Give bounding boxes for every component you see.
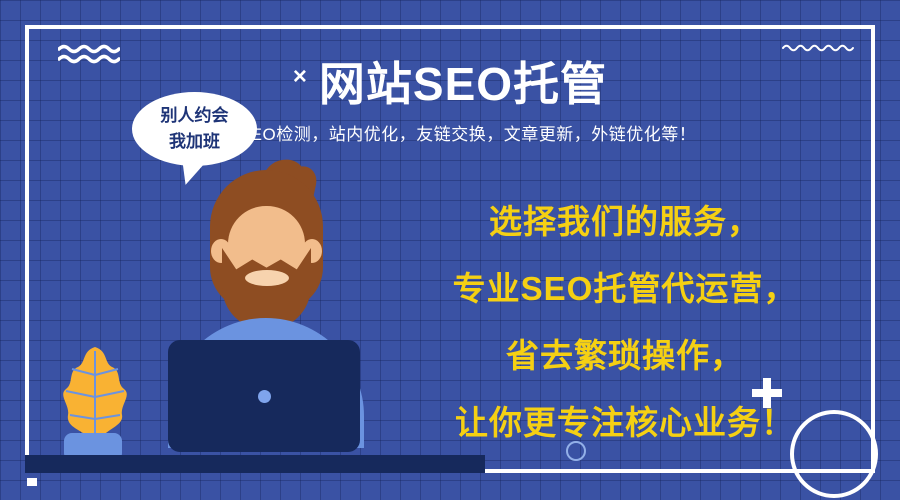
slogan-line: 专业SEO托管代运营， bbox=[410, 255, 840, 322]
seo-promo-banner: ×网站SEO托管 含：SEO检测，站内优化，友链交换，文章更新，外链优化等！ 选… bbox=[0, 0, 900, 500]
desk-surface bbox=[25, 455, 485, 473]
slogan-line: 选择我们的服务， bbox=[410, 188, 840, 255]
speech-bubble: 别人约会 我加班 bbox=[132, 92, 257, 166]
mouth bbox=[245, 270, 289, 286]
laptop-logo-dot bbox=[258, 390, 271, 403]
speech-bubble-line: 我加班 bbox=[132, 129, 257, 155]
plant-illustration bbox=[50, 345, 140, 457]
slogan-line: 让你更专注核心业务！ bbox=[410, 389, 840, 456]
speech-bubble-line: 别人约会 bbox=[132, 103, 257, 129]
laptop bbox=[168, 340, 360, 452]
slogan-block: 选择我们的服务， 专业SEO托管代运营， 省去繁琐操作， 让你更专注核心业务！ bbox=[410, 188, 840, 456]
slogan-line: 省去繁琐操作， bbox=[410, 322, 840, 389]
plant-leaf-icon bbox=[50, 345, 140, 445]
speech-bubble-text: 别人约会 我加班 bbox=[132, 103, 257, 155]
